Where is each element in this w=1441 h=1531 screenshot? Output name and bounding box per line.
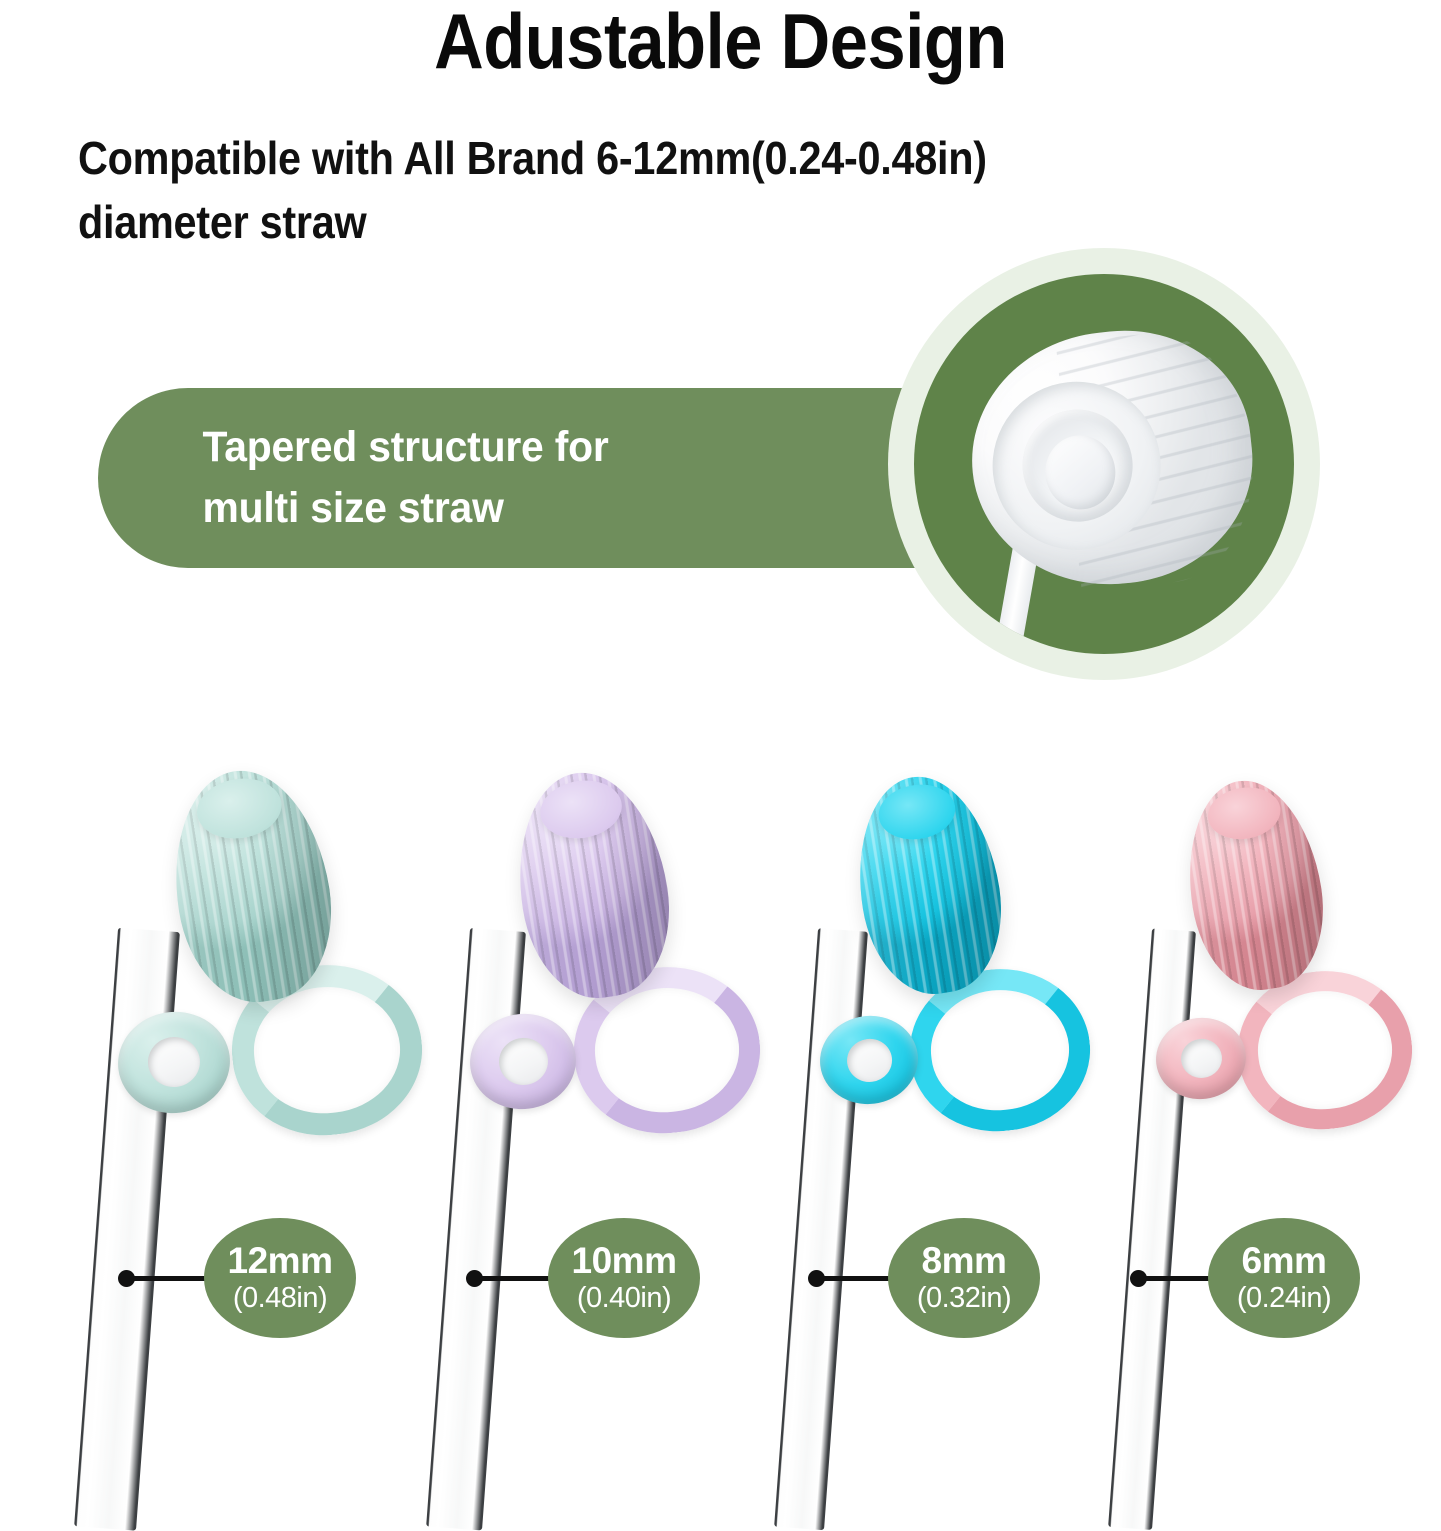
callout-bubble: 8mm(0.32in) <box>888 1218 1040 1338</box>
ribbed-dome-cap <box>844 767 1014 1004</box>
tapered-cap-closeup-disc <box>914 274 1294 654</box>
ring-collar-hole <box>845 1036 895 1084</box>
size-callout-12mm: 12mm(0.48in) <box>118 1218 356 1338</box>
banner-line-1: Tapered structure for <box>203 417 609 478</box>
ring-collar-hole <box>1179 1037 1224 1081</box>
size-callout-8mm: 8mm(0.32in) <box>808 1218 1040 1338</box>
callout-bubble: 10mm(0.40in) <box>548 1218 700 1338</box>
callout-size-inches: (0.32in) <box>917 1282 1011 1314</box>
callout-bubble: 6mm(0.24in) <box>1208 1218 1360 1338</box>
cap-mouth-inner <box>1017 404 1138 527</box>
size-callout-6mm: 6mm(0.24in) <box>1130 1218 1360 1338</box>
size-callout-10mm: 10mm(0.40in) <box>466 1218 700 1338</box>
ring-collar-hole <box>496 1035 550 1088</box>
callout-size-mm: 12mm <box>228 1242 333 1280</box>
callout-size-mm: 6mm <box>1242 1242 1327 1280</box>
tapered-cap-closeup-halo <box>888 248 1320 680</box>
callout-size-inches: (0.48in) <box>233 1282 327 1314</box>
cap-tapered-bore <box>1042 432 1119 513</box>
callout-bubble: 12mm(0.48in) <box>204 1218 356 1338</box>
feature-banner-text: Tapered structure for multi size straw <box>98 417 637 539</box>
cap-body-white <box>960 318 1265 598</box>
banner-line-2: multi size straw <box>203 478 609 539</box>
ribbed-dome-cap <box>1174 771 1335 999</box>
callout-size-inches: (0.40in) <box>577 1282 671 1314</box>
callout-size-mm: 8mm <box>922 1242 1007 1280</box>
ring-collar-hole <box>145 1034 203 1090</box>
feature-banner: Tapered structure for multi size straw <box>98 388 943 568</box>
callout-size-mm: 10mm <box>572 1242 677 1280</box>
callout-size-inches: (0.24in) <box>1237 1282 1331 1314</box>
